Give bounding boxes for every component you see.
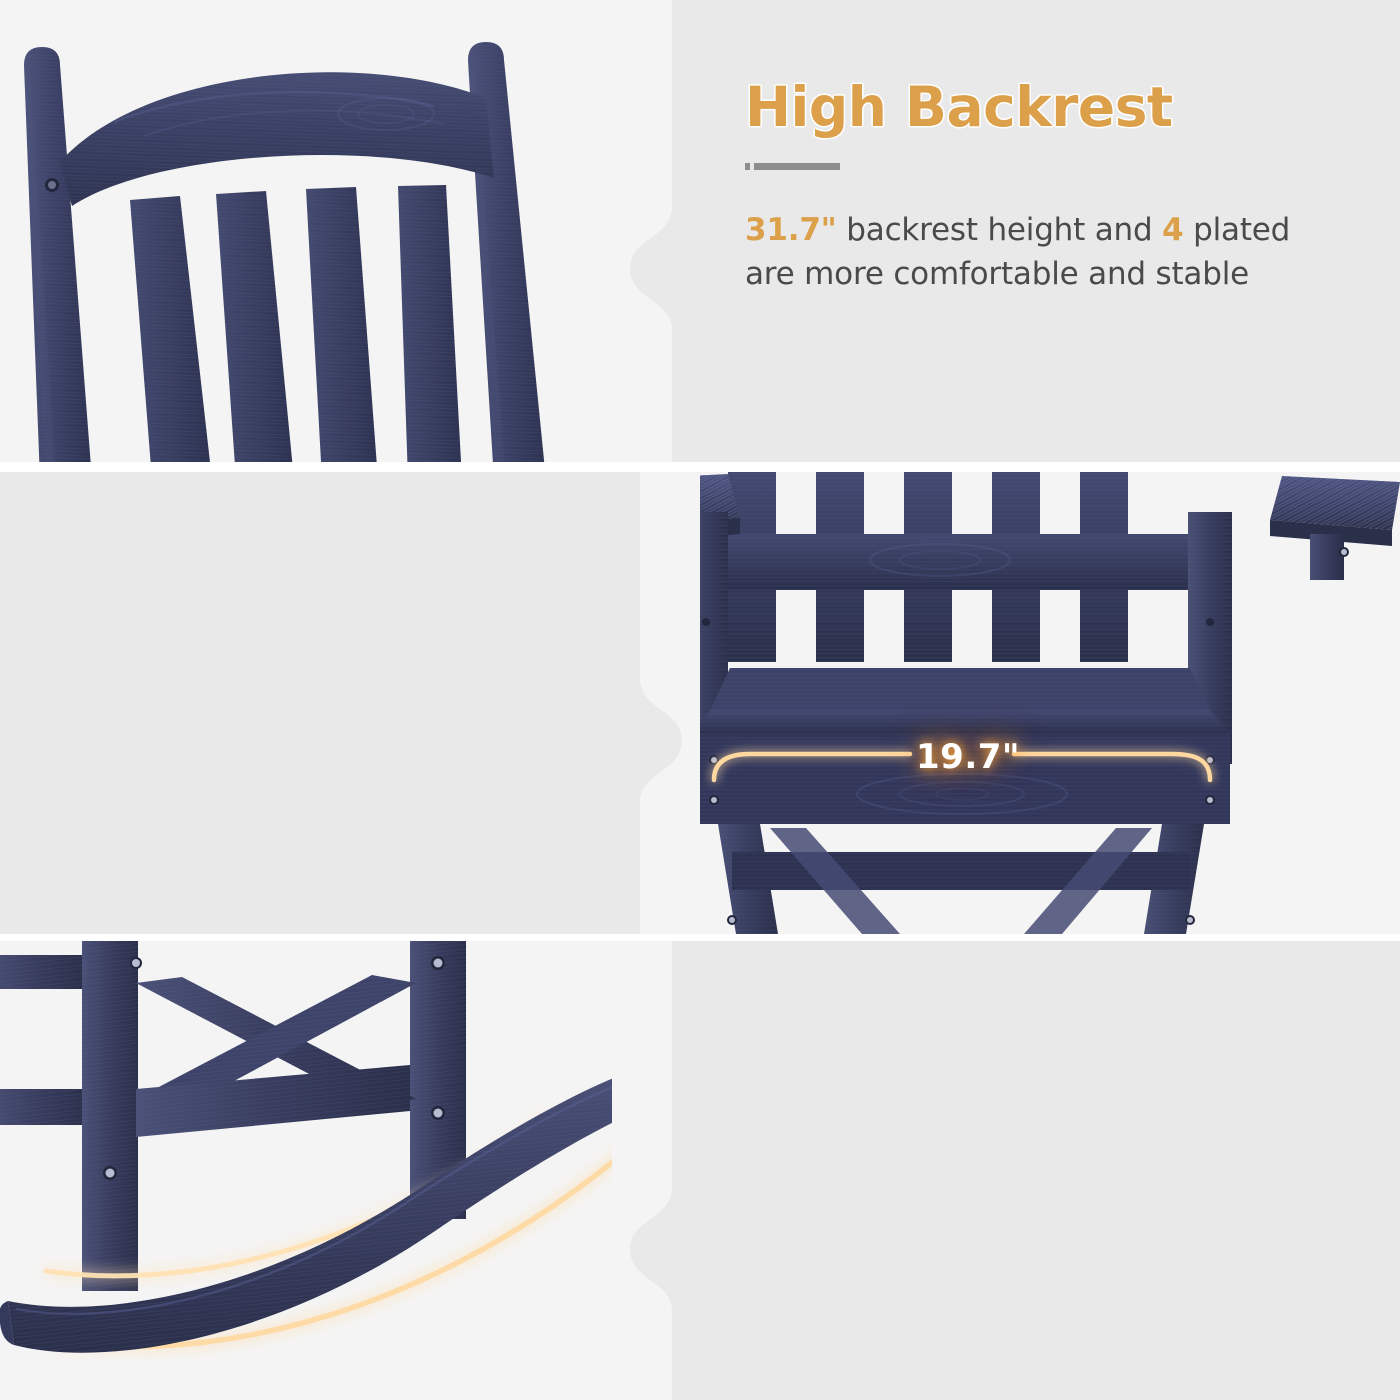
product-image-backrest [0, 0, 700, 462]
rule-tick [745, 163, 750, 170]
feature-panel-widened-seats: 19.7" Widened Seats 19.7" seat width can… [0, 472, 1400, 934]
rocker-upper-rails [0, 955, 90, 1125]
rule-bar [754, 163, 840, 170]
copy-block-high-backrest: High Backrest 31.7" backrest height and … [745, 78, 1345, 296]
rocking-chair-seat-illustration [610, 472, 1400, 934]
seat-legs-and-rockers [718, 824, 1204, 934]
seat-right-armrest [1270, 476, 1400, 580]
heading-rule [745, 163, 1345, 170]
panel-body: 31.7" backrest height and 4 plated are m… [745, 208, 1345, 296]
text-pane-reinforced-rocking [672, 941, 1400, 1400]
feature-panel-reinforced-rocking-structure: Reinforced Rocking Structure Rocking mor… [0, 941, 1400, 1400]
rocker-front-leg [82, 941, 138, 1291]
rocker-horizontal-stretcher [136, 1065, 410, 1137]
backrest-left-post [24, 47, 92, 462]
seat-back-rail [688, 534, 1208, 590]
body-text-segment: backrest height and [837, 212, 1162, 248]
backrest-slats [130, 185, 462, 462]
rocking-chair-backrest-illustration [0, 10, 694, 462]
text-pane-widened-seats [0, 472, 640, 934]
feature-panel-high-backrest: High Backrest 31.7" backrest height and … [0, 0, 1400, 462]
product-image-rocker [0, 941, 700, 1400]
rocking-chair-rocker-illustration [0, 941, 700, 1400]
panel-heading: High Backrest [745, 78, 1345, 137]
body-highlight-count: 4 [1162, 212, 1183, 248]
body-highlight-measurement: 31.7" [745, 212, 837, 248]
product-feature-infographic: High Backrest 31.7" backrest height and … [0, 0, 1400, 1400]
product-image-seat: 19.7" [610, 472, 1400, 934]
seat-width-callout: 19.7" [916, 737, 1020, 777]
